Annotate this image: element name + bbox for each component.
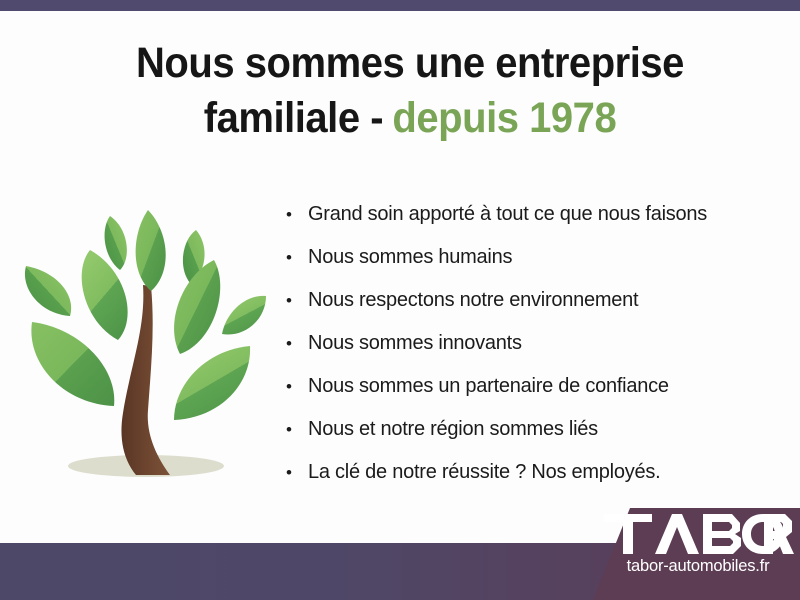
leaf-far-left-small: [25, 266, 71, 316]
list-item: • Nous respectons notre environnement: [286, 279, 786, 322]
bullet-dot-icon: •: [286, 335, 308, 352]
list-item-label: Nous respectons notre environnement: [308, 289, 638, 312]
leaf-upper-left-small: [105, 216, 127, 270]
list-item-label: Grand soin apporté à tout ce que nous fa…: [308, 203, 707, 226]
leaf-right-upper: [174, 260, 220, 354]
list-item: • Nous et notre région sommes liés: [286, 408, 786, 451]
list-item: • Nous sommes humains: [286, 236, 786, 279]
leaf-right-lower: [174, 346, 250, 420]
tree-illustration: [18, 188, 274, 488]
leaf-top-center: [136, 210, 166, 291]
headline-line-1: Nous sommes une entreprise: [136, 39, 684, 87]
list-item: • Nous sommes innovants: [286, 322, 786, 365]
headline-line-2-accent: depuis 1978: [392, 94, 616, 142]
bullet-dot-icon: •: [286, 378, 308, 395]
tabor-wordmark-r-icon: [764, 514, 794, 554]
list-item: • Grand soin apporté à tout ce que nous …: [286, 193, 786, 236]
leaf-far-right-small: [222, 296, 266, 335]
headline-line-2-plain: familiale -: [204, 94, 383, 142]
leaf-left-lower: [31, 322, 114, 406]
tree-trunk: [121, 285, 170, 475]
tree-svg: [18, 188, 274, 488]
bullet-dot-icon: •: [286, 292, 308, 309]
list-item-label: Nous sommes un partenaire de confiance: [308, 375, 669, 398]
list-item: • Nous sommes un partenaire de confiance: [286, 365, 786, 408]
list-item-label: Nous sommes humains: [308, 246, 512, 269]
list-item: • La clé de notre réussite ? Nos employé…: [286, 451, 786, 494]
bullet-dot-icon: •: [286, 421, 308, 438]
slide-canvas: Nous sommes une entreprise familiale -de…: [0, 0, 800, 600]
list-item-label: Nous sommes innovants: [308, 332, 522, 355]
bullet-dot-icon: •: [286, 206, 308, 223]
logo-tagline: tabor-automobiles.fr: [604, 557, 792, 576]
list-item-label: La clé de notre réussite ? Nos employés.: [308, 461, 660, 484]
list-item-label: Nous et notre région sommes liés: [308, 418, 598, 441]
value-bullet-list: • Grand soin apporté à tout ce que nous …: [286, 193, 786, 494]
bullet-dot-icon: •: [286, 249, 308, 266]
top-accent-bar: [0, 0, 800, 11]
page-title: Nous sommes une entreprise familiale -de…: [85, 36, 736, 146]
bullet-dot-icon: •: [286, 464, 308, 481]
brand-logo: tabor-automobiles.fr: [604, 514, 792, 590]
